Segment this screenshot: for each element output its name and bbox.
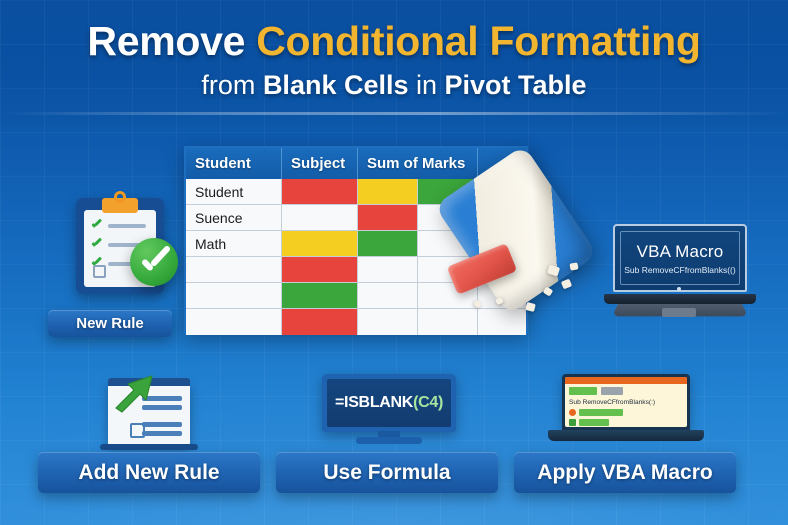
infographic-canvas: Remove Conditional Formatting from Blank…	[0, 0, 788, 525]
page-subtitle-part4: Pivot Table	[445, 70, 587, 100]
eraser-crumb	[569, 262, 578, 270]
vba-macro-laptop-screen: VBA Macro Sub RemoveCFfromBlanks(()	[613, 224, 747, 292]
formula-monitor-screen: =ISBLANK(C4)	[322, 374, 456, 432]
pivot-cell-green[interactable]	[358, 231, 418, 256]
clipboard-check-icon	[91, 220, 102, 231]
vba-editor-screen: Sub RemoveCFfromBlanks(:)	[562, 374, 690, 430]
document-checkbox	[130, 423, 145, 438]
pivot-cell-blank[interactable]	[358, 257, 418, 282]
clipboard-line	[108, 224, 146, 228]
add-rule-document-base	[100, 444, 198, 450]
laptop-code-editor-icon: Sub RemoveCFfromBlanks(:)	[548, 374, 704, 450]
monitor-icon: =ISBLANK(C4)	[316, 374, 462, 450]
pivot-cell-red[interactable]	[358, 205, 418, 230]
apply-vba-macro-button[interactable]: Apply VBA Macro	[514, 452, 736, 493]
pivot-row-label[interactable]	[186, 257, 282, 282]
vba-macro-laptop-trackpad	[662, 308, 696, 317]
vba-editor-content: Sub RemoveCFfromBlanks(:)	[565, 377, 687, 427]
pivot-cell-yellow[interactable]	[282, 231, 358, 256]
document-line	[142, 431, 182, 436]
vba-editor-code-line: Sub RemoveCFfromBlanks(:)	[569, 399, 655, 406]
pivot-cell-blank[interactable]	[282, 205, 358, 230]
add-new-rule-button[interactable]: Add New Rule	[38, 452, 260, 493]
pivot-column-header-student[interactable]: Student	[186, 148, 282, 179]
vba-editor-bullet	[569, 419, 576, 426]
page-title-part1: Remove	[87, 18, 256, 64]
vba-macro-laptop-camera-dot	[677, 287, 681, 291]
header-sheen-divider	[0, 112, 788, 115]
vba-editor-token	[579, 409, 623, 416]
use-formula-label: Use Formula	[323, 461, 450, 485]
document-line	[142, 422, 182, 427]
vba-editor-laptop-base	[548, 430, 704, 441]
formula-reference: (C4)	[413, 394, 443, 411]
clipboard-empty-checkbox	[93, 265, 106, 278]
vba-macro-laptop-base	[604, 294, 756, 304]
formula-function: =ISBLANK	[335, 394, 413, 411]
green-up-arrow-icon	[112, 372, 156, 416]
eraser-crumb	[473, 299, 482, 308]
vba-macro-screen-content: VBA Macro Sub RemoveCFfromBlanks(()	[620, 231, 740, 285]
page-subtitle: from Blank Cells in Pivot Table	[0, 70, 788, 101]
pivot-row-label[interactable]	[186, 283, 282, 308]
clipboard-check-icon	[91, 239, 102, 250]
vba-editor-bullet	[569, 409, 576, 416]
document-with-green-arrow-icon	[94, 378, 204, 450]
new-rule-label: New Rule	[76, 315, 144, 332]
new-rule-label-pill[interactable]: New Rule	[48, 310, 172, 337]
pivot-row-label[interactable]: Student	[186, 179, 282, 204]
vba-macro-screen-title: VBA Macro	[637, 242, 724, 262]
pivot-column-header-subject[interactable]: Subject	[282, 148, 358, 179]
green-check-badge-icon	[130, 238, 178, 286]
use-formula-button[interactable]: Use Formula	[276, 452, 498, 493]
clipboard-ring	[114, 191, 126, 203]
page-subtitle-part2: Blank Cells	[263, 70, 409, 100]
vba-editor-token	[569, 387, 597, 395]
pivot-cell-yellow[interactable]	[358, 179, 418, 204]
vba-editor-token	[601, 387, 623, 395]
pivot-cell-red[interactable]	[282, 257, 358, 282]
pivot-row-label[interactable]	[186, 309, 282, 335]
pivot-cell-blank[interactable]	[358, 283, 418, 308]
eraser-icon	[452, 158, 592, 318]
vba-editor-titlebar	[565, 377, 687, 384]
add-new-rule-label: Add New Rule	[78, 461, 219, 485]
pivot-cell-blank[interactable]	[358, 309, 418, 335]
pivot-row-label[interactable]: Math	[186, 231, 282, 256]
vba-editor-token	[579, 419, 609, 426]
formula-monitor-stand	[356, 437, 422, 444]
page-subtitle-part3: in	[409, 70, 445, 100]
apply-vba-macro-label: Apply VBA Macro	[537, 461, 712, 485]
pivot-cell-green[interactable]	[282, 283, 358, 308]
eraser-crumb	[561, 279, 572, 290]
pivot-cell-red[interactable]	[282, 179, 358, 204]
vba-macro-screen-code: Sub RemoveCFfromBlanks(()	[624, 265, 735, 275]
page-title-part2: Conditional Formatting	[256, 18, 700, 64]
page-subtitle-part1: from	[201, 70, 263, 100]
eraser-crumb	[543, 286, 553, 296]
eraser-crumb	[525, 302, 536, 312]
page-title: Remove Conditional Formatting	[0, 18, 788, 65]
pivot-cell-red[interactable]	[282, 309, 358, 335]
formula-text: =ISBLANK(C4)	[335, 394, 443, 412]
formula-monitor-content: =ISBLANK(C4)	[327, 379, 451, 427]
vba-macro-laptop: VBA Macro Sub RemoveCFfromBlanks(()	[604, 224, 756, 322]
pivot-row-label[interactable]: Suence	[186, 205, 282, 230]
